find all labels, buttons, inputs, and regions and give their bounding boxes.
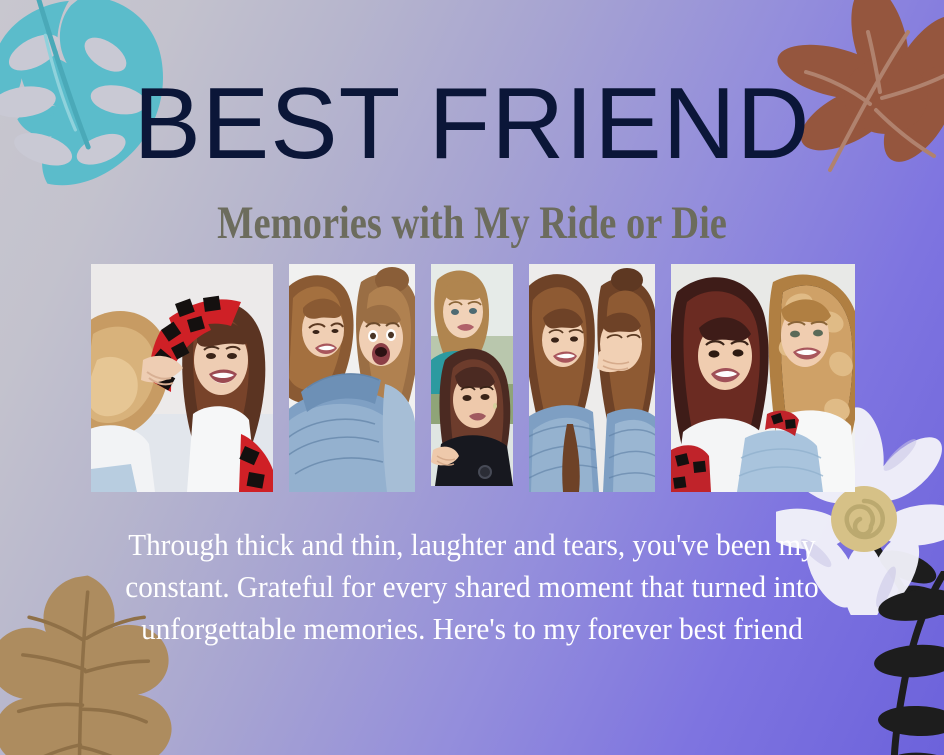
- photo-friends-hugging-denim[interactable]: [289, 264, 415, 492]
- photo-friends-cheek-to-cheek[interactable]: [671, 264, 855, 492]
- photo-two-friends-plaid-shirt[interactable]: [91, 264, 273, 492]
- black-leaf-sprig-icon: [832, 571, 944, 755]
- poster-body-text: Through thick and thin, laughter and tea…: [96, 524, 848, 650]
- photo-friends-laughing-denim[interactable]: [529, 264, 655, 492]
- photo-strip: [91, 264, 855, 492]
- poster-subtitle: Memories with My Ride or Die: [85, 200, 859, 247]
- poster-title: BEST FRIEND: [0, 74, 944, 175]
- poster-canvas: BEST FRIEND Memories with My Ride or Die: [0, 0, 944, 755]
- photo-two-friends-outdoors[interactable]: [431, 264, 513, 486]
